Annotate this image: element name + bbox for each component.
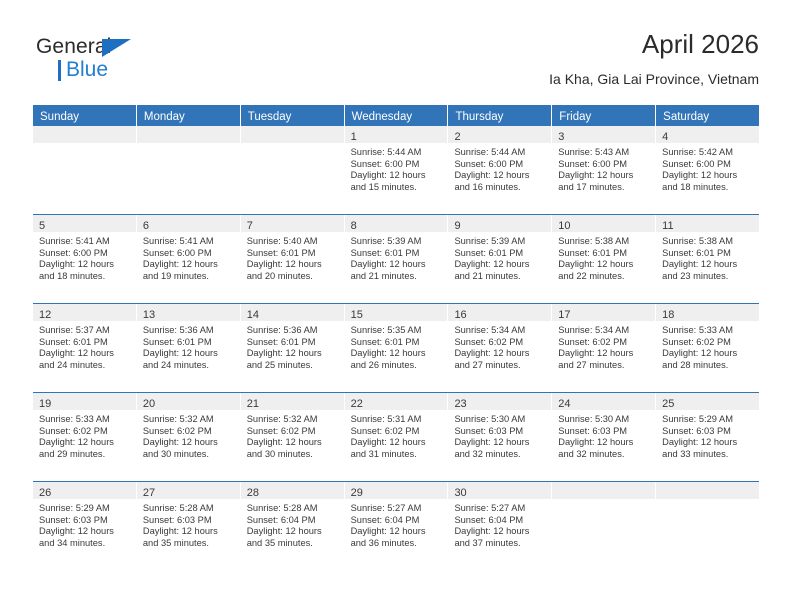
calendar-week-row: 19Sunrise: 5:33 AMSunset: 6:02 PMDayligh…: [33, 392, 759, 481]
daylight-text-line2: and 16 minutes.: [454, 182, 546, 194]
daylight-text-line1: Daylight: 12 hours: [351, 437, 443, 449]
calendar-day-cell[interactable]: 11Sunrise: 5:38 AMSunset: 6:01 PMDayligh…: [656, 215, 759, 303]
day-number: 3: [558, 131, 564, 143]
daylight-text-line2: and 21 minutes.: [454, 271, 546, 283]
sunset-text: Sunset: 6:02 PM: [351, 426, 443, 438]
day-number: 6: [143, 220, 149, 232]
sunset-text: Sunset: 6:03 PM: [662, 426, 754, 438]
daylight-text-line1: Daylight: 12 hours: [454, 348, 546, 360]
day-details: Sunrise: 5:44 AMSunset: 6:00 PMDaylight:…: [448, 143, 551, 193]
sunrise-text: Sunrise: 5:30 AM: [558, 414, 650, 426]
daylight-text-line1: Daylight: 12 hours: [454, 437, 546, 449]
sunrise-text: Sunrise: 5:37 AM: [39, 325, 131, 337]
daylight-text-line2: and 33 minutes.: [662, 449, 754, 461]
day-number: 13: [143, 309, 155, 321]
day-number-band: 18: [656, 304, 759, 321]
sunrise-text: Sunrise: 5:40 AM: [247, 236, 339, 248]
sunrise-text: Sunrise: 5:27 AM: [351, 503, 443, 515]
day-details: Sunrise: 5:40 AMSunset: 6:01 PMDaylight:…: [241, 232, 344, 282]
sunset-text: Sunset: 6:03 PM: [558, 426, 650, 438]
day-number-band: 26: [33, 482, 136, 499]
weekday-header-saturday: Saturday: [656, 105, 759, 126]
sunrise-text: Sunrise: 5:44 AM: [454, 147, 546, 159]
day-number: 26: [39, 487, 51, 499]
day-details: Sunrise: 5:41 AMSunset: 6:00 PMDaylight:…: [137, 232, 240, 282]
daylight-text-line2: and 18 minutes.: [39, 271, 131, 283]
day-number-band: 28: [241, 482, 344, 499]
day-number: 24: [558, 398, 570, 410]
daylight-text-line2: and 23 minutes.: [662, 271, 754, 283]
daylight-text-line1: Daylight: 12 hours: [454, 259, 546, 271]
day-number-band: 16: [448, 304, 551, 321]
calendar-day-cell[interactable]: 29Sunrise: 5:27 AMSunset: 6:04 PMDayligh…: [345, 482, 449, 570]
day-number: 19: [39, 398, 51, 410]
day-details: Sunrise: 5:44 AMSunset: 6:00 PMDaylight:…: [345, 143, 448, 193]
day-details: Sunrise: 5:31 AMSunset: 6:02 PMDaylight:…: [345, 410, 448, 460]
day-details: Sunrise: 5:38 AMSunset: 6:01 PMDaylight:…: [552, 232, 655, 282]
day-number: 7: [247, 220, 253, 232]
sunset-text: Sunset: 6:01 PM: [662, 248, 754, 260]
calendar-day-cell[interactable]: 3Sunrise: 5:43 AMSunset: 6:00 PMDaylight…: [552, 126, 656, 214]
daylight-text-line1: Daylight: 12 hours: [143, 348, 235, 360]
day-number-band: 29: [345, 482, 448, 499]
daylight-text-line2: and 37 minutes.: [454, 538, 546, 550]
calendar-day-cell[interactable]: 23Sunrise: 5:30 AMSunset: 6:03 PMDayligh…: [448, 393, 552, 481]
day-number: 12: [39, 309, 51, 321]
day-number: 1: [351, 131, 357, 143]
sunset-text: Sunset: 6:00 PM: [558, 159, 650, 171]
day-details: Sunrise: 5:27 AMSunset: 6:04 PMDaylight:…: [448, 499, 551, 549]
calendar-day-cell-empty: [241, 126, 345, 214]
day-number-band: 24: [552, 393, 655, 410]
sunrise-text: Sunrise: 5:33 AM: [662, 325, 754, 337]
day-number: 27: [143, 487, 155, 499]
day-details: Sunrise: 5:36 AMSunset: 6:01 PMDaylight:…: [241, 321, 344, 371]
daylight-text-line2: and 31 minutes.: [351, 449, 443, 461]
daylight-text-line1: Daylight: 12 hours: [247, 259, 339, 271]
sunrise-text: Sunrise: 5:28 AM: [247, 503, 339, 515]
sunrise-text: Sunrise: 5:27 AM: [454, 503, 546, 515]
day-number: 30: [454, 487, 466, 499]
daylight-text-line1: Daylight: 12 hours: [558, 348, 650, 360]
day-number-band: 9: [448, 215, 551, 232]
sunrise-text: Sunrise: 5:36 AM: [143, 325, 235, 337]
day-details: Sunrise: 5:39 AMSunset: 6:01 PMDaylight:…: [345, 232, 448, 282]
daylight-text-line1: Daylight: 12 hours: [247, 526, 339, 538]
day-details: Sunrise: 5:36 AMSunset: 6:01 PMDaylight:…: [137, 321, 240, 371]
daylight-text-line2: and 27 minutes.: [558, 360, 650, 372]
general-blue-logo: General Blue: [36, 34, 196, 92]
day-number-band: [552, 482, 655, 499]
calendar-day-cell[interactable]: 7Sunrise: 5:40 AMSunset: 6:01 PMDaylight…: [241, 215, 345, 303]
day-number-band: 11: [656, 215, 759, 232]
day-number: 21: [247, 398, 259, 410]
day-number-band: 25: [656, 393, 759, 410]
day-number-band: 1: [345, 126, 448, 143]
sunrise-text: Sunrise: 5:31 AM: [351, 414, 443, 426]
day-number: 20: [143, 398, 155, 410]
sunrise-text: Sunrise: 5:32 AM: [143, 414, 235, 426]
day-number-band: 3: [552, 126, 655, 143]
day-details: Sunrise: 5:28 AMSunset: 6:04 PMDaylight:…: [241, 499, 344, 549]
day-number-band: 23: [448, 393, 551, 410]
weekday-header-monday: Monday: [137, 105, 241, 126]
day-number-band: 30: [448, 482, 551, 499]
calendar-day-cell-empty: [552, 482, 656, 570]
day-number: 4: [662, 131, 668, 143]
weekday-header-friday: Friday: [552, 105, 656, 126]
weekday-header-row: Sunday Monday Tuesday Wednesday Thursday…: [33, 105, 759, 126]
day-number: 11: [662, 220, 673, 232]
sunset-text: Sunset: 6:03 PM: [39, 515, 131, 527]
calendar-day-cell[interactable]: 30Sunrise: 5:27 AMSunset: 6:04 PMDayligh…: [448, 482, 552, 570]
sunrise-text: Sunrise: 5:39 AM: [454, 236, 546, 248]
calendar-week-row: 1Sunrise: 5:44 AMSunset: 6:00 PMDaylight…: [33, 126, 759, 214]
day-number-band: 22: [345, 393, 448, 410]
calendar-day-cell[interactable]: 4Sunrise: 5:42 AMSunset: 6:00 PMDaylight…: [656, 126, 759, 214]
sunset-text: Sunset: 6:00 PM: [454, 159, 546, 171]
daylight-text-line2: and 22 minutes.: [558, 271, 650, 283]
sunset-text: Sunset: 6:01 PM: [558, 248, 650, 260]
sunrise-text: Sunrise: 5:38 AM: [662, 236, 754, 248]
day-number-band: 5: [33, 215, 136, 232]
day-number: 23: [454, 398, 466, 410]
daylight-text-line1: Daylight: 12 hours: [558, 437, 650, 449]
calendar-day-cell[interactable]: 15Sunrise: 5:35 AMSunset: 6:01 PMDayligh…: [345, 304, 449, 392]
calendar-day-cell[interactable]: 13Sunrise: 5:36 AMSunset: 6:01 PMDayligh…: [137, 304, 241, 392]
daylight-text-line1: Daylight: 12 hours: [39, 526, 131, 538]
day-details: Sunrise: 5:41 AMSunset: 6:00 PMDaylight:…: [33, 232, 136, 282]
sunset-text: Sunset: 6:03 PM: [143, 515, 235, 527]
daylight-text-line2: and 36 minutes.: [351, 538, 443, 550]
sunrise-text: Sunrise: 5:44 AM: [351, 147, 443, 159]
calendar-day-cell[interactable]: 25Sunrise: 5:29 AMSunset: 6:03 PMDayligh…: [656, 393, 759, 481]
sunrise-text: Sunrise: 5:41 AM: [143, 236, 235, 248]
day-number-band: 27: [137, 482, 240, 499]
day-details: Sunrise: 5:34 AMSunset: 6:02 PMDaylight:…: [552, 321, 655, 371]
day-details: Sunrise: 5:28 AMSunset: 6:03 PMDaylight:…: [137, 499, 240, 549]
daylight-text-line2: and 34 minutes.: [39, 538, 131, 550]
day-details: Sunrise: 5:34 AMSunset: 6:02 PMDaylight:…: [448, 321, 551, 371]
day-details: Sunrise: 5:33 AMSunset: 6:02 PMDaylight:…: [656, 321, 759, 371]
sunrise-text: Sunrise: 5:35 AM: [351, 325, 443, 337]
calendar-day-cell-empty: [656, 482, 759, 570]
day-details: Sunrise: 5:29 AMSunset: 6:03 PMDaylight:…: [656, 410, 759, 460]
daylight-text-line1: Daylight: 12 hours: [558, 170, 650, 182]
day-number-band: 10: [552, 215, 655, 232]
daylight-text-line2: and 15 minutes.: [351, 182, 443, 194]
day-number: 18: [662, 309, 674, 321]
day-number: 9: [454, 220, 460, 232]
sunrise-text: Sunrise: 5:36 AM: [247, 325, 339, 337]
calendar-grid: Sunday Monday Tuesday Wednesday Thursday…: [33, 105, 759, 570]
daylight-text-line2: and 24 minutes.: [39, 360, 131, 372]
calendar-day-cell[interactable]: 16Sunrise: 5:34 AMSunset: 6:02 PMDayligh…: [448, 304, 552, 392]
day-details: Sunrise: 5:30 AMSunset: 6:03 PMDaylight:…: [448, 410, 551, 460]
sunrise-text: Sunrise: 5:30 AM: [454, 414, 546, 426]
day-number-band: 17: [552, 304, 655, 321]
calendar-day-cell[interactable]: 26Sunrise: 5:29 AMSunset: 6:03 PMDayligh…: [33, 482, 137, 570]
sunrise-text: Sunrise: 5:38 AM: [558, 236, 650, 248]
day-number: 22: [351, 398, 363, 410]
day-number-band: 6: [137, 215, 240, 232]
daylight-text-line1: Daylight: 12 hours: [143, 259, 235, 271]
day-number: 8: [351, 220, 357, 232]
day-details: Sunrise: 5:32 AMSunset: 6:02 PMDaylight:…: [241, 410, 344, 460]
sunset-text: Sunset: 6:04 PM: [454, 515, 546, 527]
sunrise-text: Sunrise: 5:34 AM: [454, 325, 546, 337]
daylight-text-line1: Daylight: 12 hours: [662, 259, 754, 271]
daylight-text-line1: Daylight: 12 hours: [558, 259, 650, 271]
day-number: 17: [558, 309, 570, 321]
day-number-band: 13: [137, 304, 240, 321]
day-number-band: [137, 126, 240, 143]
day-number: 10: [558, 220, 570, 232]
day-number-band: 20: [137, 393, 240, 410]
daylight-text-line1: Daylight: 12 hours: [662, 170, 754, 182]
day-details: Sunrise: 5:33 AMSunset: 6:02 PMDaylight:…: [33, 410, 136, 460]
day-details: Sunrise: 5:42 AMSunset: 6:00 PMDaylight:…: [656, 143, 759, 193]
sunrise-text: Sunrise: 5:43 AM: [558, 147, 650, 159]
day-number: 16: [454, 309, 466, 321]
triangle-icon: [102, 39, 131, 57]
daylight-text-line1: Daylight: 12 hours: [247, 348, 339, 360]
sunrise-text: Sunrise: 5:29 AM: [39, 503, 131, 515]
logo-text-blue: Blue: [66, 57, 108, 82]
day-details: Sunrise: 5:27 AMSunset: 6:04 PMDaylight:…: [345, 499, 448, 549]
sunset-text: Sunset: 6:00 PM: [351, 159, 443, 171]
calendar-day-cell[interactable]: 17Sunrise: 5:34 AMSunset: 6:02 PMDayligh…: [552, 304, 656, 392]
daylight-text-line1: Daylight: 12 hours: [662, 437, 754, 449]
day-number-band: 4: [656, 126, 759, 143]
daylight-text-line1: Daylight: 12 hours: [39, 348, 131, 360]
day-number-band: 14: [241, 304, 344, 321]
day-number-band: 15: [345, 304, 448, 321]
sunrise-text: Sunrise: 5:39 AM: [351, 236, 443, 248]
sunrise-text: Sunrise: 5:29 AM: [662, 414, 754, 426]
sunset-text: Sunset: 6:02 PM: [558, 337, 650, 349]
day-number: 25: [662, 398, 674, 410]
calendar-day-cell[interactable]: 10Sunrise: 5:38 AMSunset: 6:01 PMDayligh…: [552, 215, 656, 303]
calendar-day-cell-empty: [33, 126, 137, 214]
day-details: Sunrise: 5:30 AMSunset: 6:03 PMDaylight:…: [552, 410, 655, 460]
calendar-week-row: 12Sunrise: 5:37 AMSunset: 6:01 PMDayligh…: [33, 303, 759, 392]
day-details: Sunrise: 5:43 AMSunset: 6:00 PMDaylight:…: [552, 143, 655, 193]
calendar-day-cell[interactable]: 28Sunrise: 5:28 AMSunset: 6:04 PMDayligh…: [241, 482, 345, 570]
daylight-text-line2: and 35 minutes.: [143, 538, 235, 550]
sunset-text: Sunset: 6:04 PM: [351, 515, 443, 527]
day-number: 14: [247, 309, 259, 321]
daylight-text-line2: and 30 minutes.: [247, 449, 339, 461]
logo-accent-bar: [58, 60, 61, 81]
daylight-text-line2: and 32 minutes.: [454, 449, 546, 461]
sunrise-text: Sunrise: 5:32 AM: [247, 414, 339, 426]
daylight-text-line1: Daylight: 12 hours: [39, 259, 131, 271]
daylight-text-line2: and 35 minutes.: [247, 538, 339, 550]
calendar-day-cell[interactable]: 22Sunrise: 5:31 AMSunset: 6:02 PMDayligh…: [345, 393, 449, 481]
calendar-day-cell[interactable]: 19Sunrise: 5:33 AMSunset: 6:02 PMDayligh…: [33, 393, 137, 481]
sunrise-text: Sunrise: 5:28 AM: [143, 503, 235, 515]
daylight-text-line1: Daylight: 12 hours: [143, 437, 235, 449]
calendar-day-cell[interactable]: 6Sunrise: 5:41 AMSunset: 6:00 PMDaylight…: [137, 215, 241, 303]
sunset-text: Sunset: 6:03 PM: [454, 426, 546, 438]
calendar-day-cell[interactable]: 20Sunrise: 5:32 AMSunset: 6:02 PMDayligh…: [137, 393, 241, 481]
weekday-header-tuesday: Tuesday: [241, 105, 345, 126]
weekday-header-thursday: Thursday: [448, 105, 552, 126]
day-details: Sunrise: 5:37 AMSunset: 6:01 PMDaylight:…: [33, 321, 136, 371]
day-number-band: [33, 126, 136, 143]
day-number-band: 7: [241, 215, 344, 232]
day-details: Sunrise: 5:32 AMSunset: 6:02 PMDaylight:…: [137, 410, 240, 460]
calendar-day-cell[interactable]: 1Sunrise: 5:44 AMSunset: 6:00 PMDaylight…: [345, 126, 449, 214]
sunrise-text: Sunrise: 5:33 AM: [39, 414, 131, 426]
day-number: 28: [247, 487, 259, 499]
day-number: 2: [454, 131, 460, 143]
sunrise-text: Sunrise: 5:34 AM: [558, 325, 650, 337]
daylight-text-line1: Daylight: 12 hours: [351, 526, 443, 538]
sunset-text: Sunset: 6:01 PM: [247, 248, 339, 260]
day-number-band: 8: [345, 215, 448, 232]
daylight-text-line2: and 25 minutes.: [247, 360, 339, 372]
calendar-week-row: 5Sunrise: 5:41 AMSunset: 6:00 PMDaylight…: [33, 214, 759, 303]
calendar-day-cell[interactable]: 5Sunrise: 5:41 AMSunset: 6:00 PMDaylight…: [33, 215, 137, 303]
calendar-weeks: 1Sunrise: 5:44 AMSunset: 6:00 PMDaylight…: [33, 126, 759, 570]
day-details: Sunrise: 5:29 AMSunset: 6:03 PMDaylight:…: [33, 499, 136, 549]
daylight-text-line1: Daylight: 12 hours: [351, 259, 443, 271]
day-details: Sunrise: 5:38 AMSunset: 6:01 PMDaylight:…: [656, 232, 759, 282]
sunset-text: Sunset: 6:02 PM: [247, 426, 339, 438]
calendar-day-cell[interactable]: 12Sunrise: 5:37 AMSunset: 6:01 PMDayligh…: [33, 304, 137, 392]
daylight-text-line2: and 27 minutes.: [454, 360, 546, 372]
daylight-text-line2: and 19 minutes.: [143, 271, 235, 283]
day-details: Sunrise: 5:35 AMSunset: 6:01 PMDaylight:…: [345, 321, 448, 371]
daylight-text-line2: and 28 minutes.: [662, 360, 754, 372]
sunset-text: Sunset: 6:01 PM: [143, 337, 235, 349]
daylight-text-line2: and 21 minutes.: [351, 271, 443, 283]
sunset-text: Sunset: 6:00 PM: [662, 159, 754, 171]
calendar-page: General Blue April 2026 Ia Kha, Gia Lai …: [0, 0, 792, 612]
sunset-text: Sunset: 6:00 PM: [39, 248, 131, 260]
sunset-text: Sunset: 6:00 PM: [143, 248, 235, 260]
calendar-day-cell[interactable]: 18Sunrise: 5:33 AMSunset: 6:02 PMDayligh…: [656, 304, 759, 392]
sunset-text: Sunset: 6:01 PM: [351, 248, 443, 260]
daylight-text-line1: Daylight: 12 hours: [454, 526, 546, 538]
calendar-day-cell[interactable]: 24Sunrise: 5:30 AMSunset: 6:03 PMDayligh…: [552, 393, 656, 481]
calendar-day-cell[interactable]: 21Sunrise: 5:32 AMSunset: 6:02 PMDayligh…: [241, 393, 345, 481]
calendar-day-cell-empty: [137, 126, 241, 214]
day-number-band: 2: [448, 126, 551, 143]
daylight-text-line1: Daylight: 12 hours: [454, 170, 546, 182]
day-number-band: 12: [33, 304, 136, 321]
day-number: 15: [351, 309, 363, 321]
sunset-text: Sunset: 6:02 PM: [143, 426, 235, 438]
daylight-text-line2: and 32 minutes.: [558, 449, 650, 461]
sunset-text: Sunset: 6:04 PM: [247, 515, 339, 527]
calendar-day-cell[interactable]: 9Sunrise: 5:39 AMSunset: 6:01 PMDaylight…: [448, 215, 552, 303]
calendar-day-cell[interactable]: 14Sunrise: 5:36 AMSunset: 6:01 PMDayligh…: [241, 304, 345, 392]
calendar-day-cell[interactable]: 27Sunrise: 5:28 AMSunset: 6:03 PMDayligh…: [137, 482, 241, 570]
day-number-band: 21: [241, 393, 344, 410]
day-number-band: [241, 126, 344, 143]
calendar-day-cell[interactable]: 2Sunrise: 5:44 AMSunset: 6:00 PMDaylight…: [448, 126, 552, 214]
page-title: April 2026: [642, 28, 759, 60]
day-number-band: [656, 482, 759, 499]
daylight-text-line2: and 29 minutes.: [39, 449, 131, 461]
daylight-text-line1: Daylight: 12 hours: [39, 437, 131, 449]
day-number-band: 19: [33, 393, 136, 410]
daylight-text-line2: and 30 minutes.: [143, 449, 235, 461]
daylight-text-line1: Daylight: 12 hours: [143, 526, 235, 538]
daylight-text-line1: Daylight: 12 hours: [351, 348, 443, 360]
daylight-text-line2: and 18 minutes.: [662, 182, 754, 194]
daylight-text-line1: Daylight: 12 hours: [351, 170, 443, 182]
weekday-header-sunday: Sunday: [33, 105, 137, 126]
day-number: 29: [351, 487, 363, 499]
sunset-text: Sunset: 6:01 PM: [247, 337, 339, 349]
page-header: General Blue April 2026 Ia Kha, Gia Lai …: [33, 28, 759, 96]
weekday-header-wednesday: Wednesday: [345, 105, 449, 126]
page-subtitle: Ia Kha, Gia Lai Province, Vietnam: [549, 70, 759, 88]
day-number: 5: [39, 220, 45, 232]
sunset-text: Sunset: 6:01 PM: [351, 337, 443, 349]
daylight-text-line2: and 17 minutes.: [558, 182, 650, 194]
sunset-text: Sunset: 6:02 PM: [454, 337, 546, 349]
daylight-text-line1: Daylight: 12 hours: [662, 348, 754, 360]
daylight-text-line1: Daylight: 12 hours: [247, 437, 339, 449]
sunrise-text: Sunrise: 5:41 AM: [39, 236, 131, 248]
daylight-text-line2: and 20 minutes.: [247, 271, 339, 283]
sunset-text: Sunset: 6:01 PM: [39, 337, 131, 349]
sunset-text: Sunset: 6:02 PM: [662, 337, 754, 349]
calendar-day-cell[interactable]: 8Sunrise: 5:39 AMSunset: 6:01 PMDaylight…: [345, 215, 449, 303]
daylight-text-line2: and 26 minutes.: [351, 360, 443, 372]
sunset-text: Sunset: 6:01 PM: [454, 248, 546, 260]
daylight-text-line2: and 24 minutes.: [143, 360, 235, 372]
sunset-text: Sunset: 6:02 PM: [39, 426, 131, 438]
sunrise-text: Sunrise: 5:42 AM: [662, 147, 754, 159]
day-details: Sunrise: 5:39 AMSunset: 6:01 PMDaylight:…: [448, 232, 551, 282]
logo-text-general: General: [36, 34, 111, 59]
calendar-week-row: 26Sunrise: 5:29 AMSunset: 6:03 PMDayligh…: [33, 481, 759, 570]
